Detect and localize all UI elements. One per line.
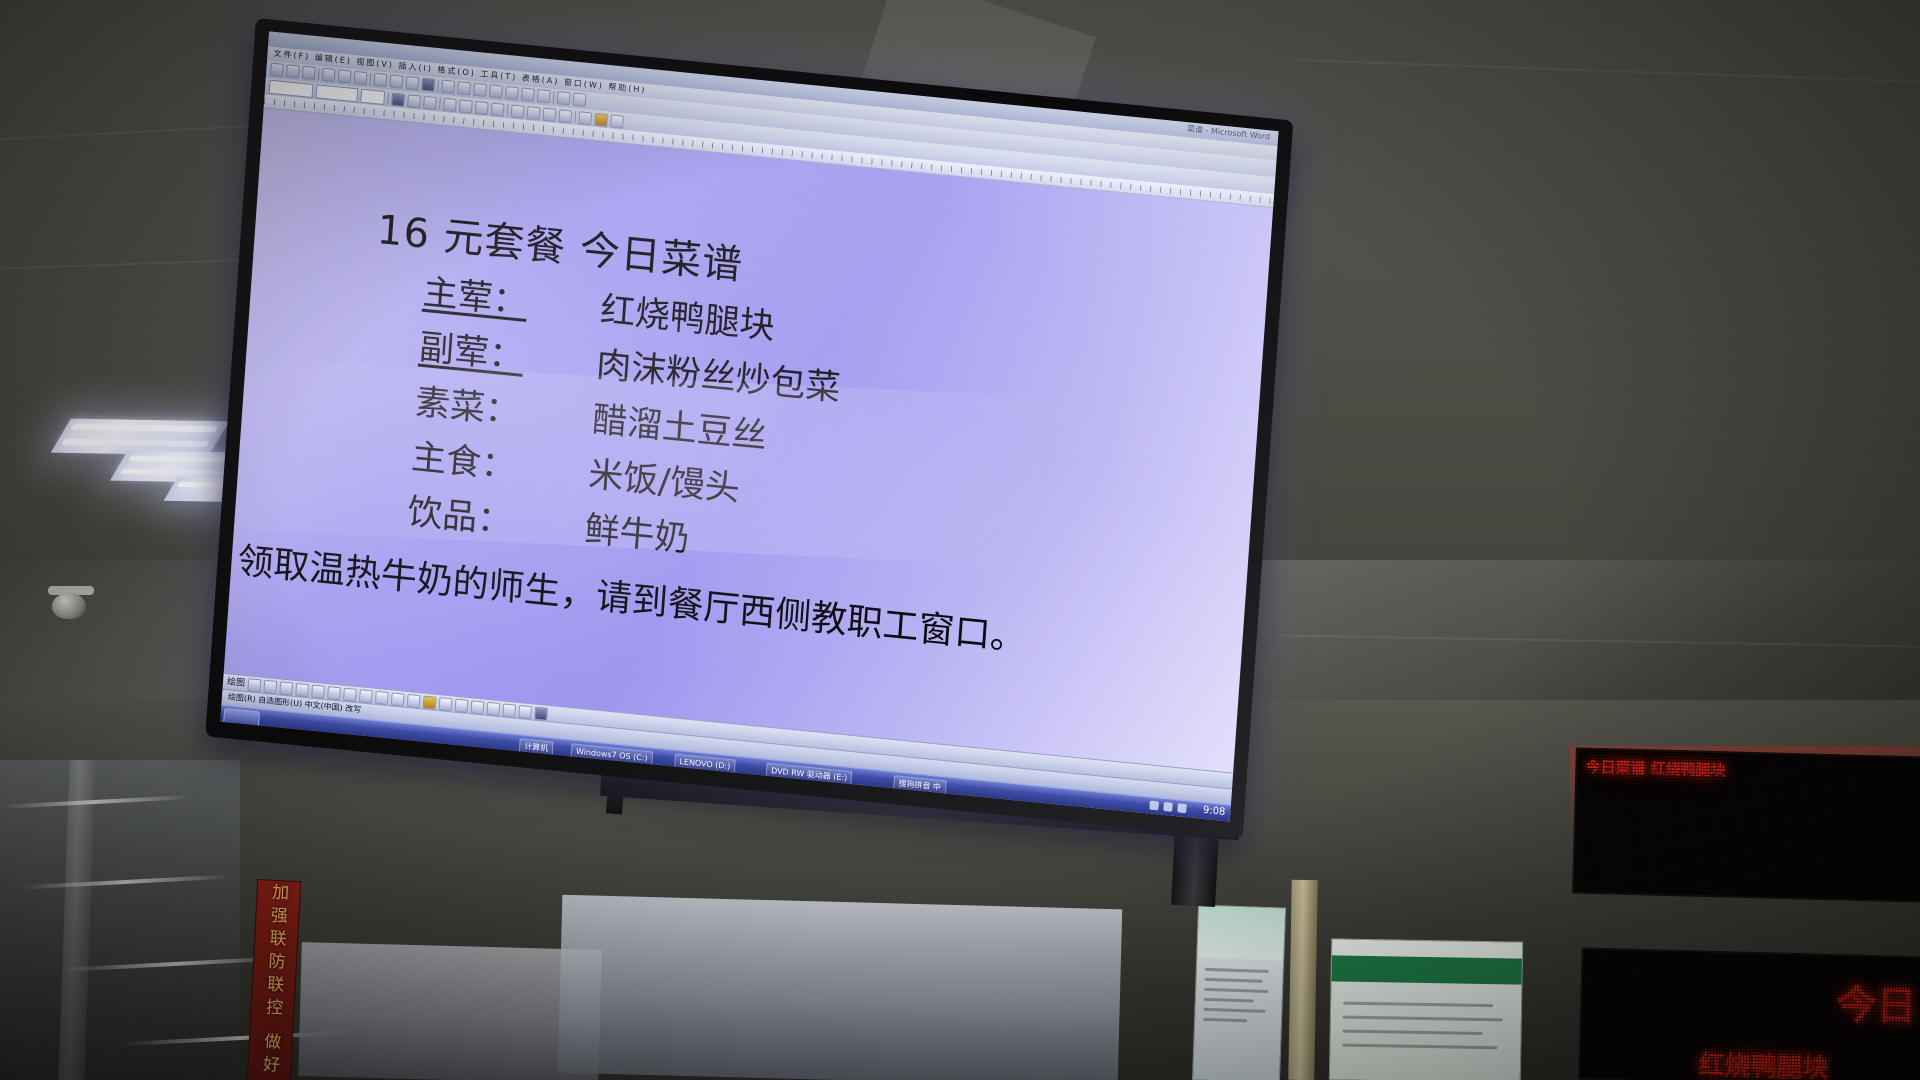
cut-icon[interactable]: [373, 73, 387, 87]
taskbar-clock[interactable]: 9:08: [1203, 805, 1226, 818]
format-painter-icon[interactable]: [421, 78, 435, 92]
menu-row-value: 鲜牛奶: [583, 501, 691, 562]
line-style-icon[interactable]: [470, 700, 484, 714]
align-left-icon[interactable]: [443, 97, 457, 111]
menu-rows: 主荤： 红烧鸭腿块 副荤： 肉沫粉丝炒包菜 素菜： 醋溜土豆丝 主食：: [406, 264, 847, 580]
volume-icon[interactable]: [1163, 802, 1173, 812]
arrow-style-icon[interactable]: [502, 703, 516, 717]
print-preview-icon[interactable]: [338, 69, 352, 83]
toolbar-separator: [439, 97, 441, 109]
font-color-icon[interactable]: [610, 114, 624, 128]
show-marks-icon[interactable]: [537, 89, 551, 103]
textbox-icon[interactable]: [343, 688, 357, 702]
toolbar-separator: [318, 68, 320, 80]
picture-icon[interactable]: [407, 694, 421, 708]
wordart-icon[interactable]: [359, 689, 373, 703]
select-objects-icon[interactable]: [247, 678, 261, 692]
justify-icon[interactable]: [491, 102, 505, 116]
shadow-style-icon[interactable]: [518, 705, 532, 719]
font-color-icon[interactable]: [455, 699, 469, 713]
copy-icon[interactable]: [389, 74, 403, 88]
action-center-icon[interactable]: [1177, 803, 1187, 813]
font-size-combo[interactable]: [360, 89, 385, 105]
system-tray[interactable]: [1149, 801, 1186, 814]
new-doc-icon[interactable]: [270, 63, 284, 77]
toolbar-separator: [437, 80, 439, 92]
scene-photo: 加强联防联控 做好 今日菜谱 红烧鸭腿块 今日 红烧鸭腿块: [0, 0, 1920, 1080]
help-icon[interactable]: [573, 93, 587, 107]
align-right-icon[interactable]: [475, 101, 489, 115]
insert-table-icon[interactable]: [473, 83, 487, 97]
columns-icon[interactable]: [505, 86, 519, 100]
toolbar-separator: [553, 91, 555, 103]
spellcheck-icon[interactable]: [354, 71, 368, 85]
undo-icon[interactable]: [441, 80, 455, 94]
network-icon[interactable]: [1149, 801, 1159, 811]
line-color-icon[interactable]: [439, 697, 453, 711]
paste-icon[interactable]: [405, 76, 419, 90]
decrease-indent-icon[interactable]: [542, 107, 556, 121]
diagram-icon[interactable]: [375, 691, 389, 705]
dash-style-icon[interactable]: [486, 702, 500, 716]
zoom-icon[interactable]: [557, 91, 571, 105]
print-icon[interactable]: [322, 68, 336, 82]
toolbar-separator: [574, 111, 576, 123]
toolbar-separator: [507, 104, 509, 116]
drawing-icon[interactable]: [521, 87, 535, 101]
increase-indent-icon[interactable]: [558, 109, 572, 123]
toolbar-separator: [370, 73, 372, 85]
drawing-menu-label[interactable]: 绘图: [227, 677, 246, 690]
underline-icon[interactable]: [423, 95, 437, 109]
save-icon[interactable]: [302, 66, 316, 80]
bulleted-list-icon[interactable]: [527, 106, 541, 120]
bold-icon[interactable]: [391, 92, 405, 106]
oval-icon[interactable]: [327, 686, 341, 700]
numbered-list-icon[interactable]: [511, 104, 525, 118]
word-document-page[interactable]: 16 元套餐 今日菜谱 主荤： 红烧鸭腿块 副荤： 肉沫粉丝炒包菜 素菜：: [224, 107, 1273, 761]
tv-screen: 菜谱 - Microsoft Word 文件(F) 编辑(E) 视图(V) 插入…: [220, 31, 1278, 821]
redo-icon[interactable]: [457, 81, 471, 95]
open-icon[interactable]: [286, 64, 300, 78]
highlight-color-icon[interactable]: [594, 112, 608, 126]
autoshapes-icon[interactable]: [263, 680, 277, 694]
arrow-icon[interactable]: [295, 683, 309, 697]
rectangle-icon[interactable]: [311, 685, 325, 699]
toolbar-separator: [387, 92, 389, 104]
italic-icon[interactable]: [407, 94, 421, 108]
3d-style-icon[interactable]: [534, 707, 548, 721]
line-icon[interactable]: [279, 681, 293, 695]
wall-mounted-tv: 菜谱 - Microsoft Word 文件(F) 编辑(E) 视图(V) 插入…: [205, 18, 1293, 839]
borders-icon[interactable]: [578, 111, 592, 125]
fill-color-icon[interactable]: [423, 696, 437, 710]
insert-hyperlink-icon[interactable]: [489, 84, 503, 98]
align-center-icon[interactable]: [459, 99, 473, 113]
clipart-icon[interactable]: [391, 692, 405, 706]
